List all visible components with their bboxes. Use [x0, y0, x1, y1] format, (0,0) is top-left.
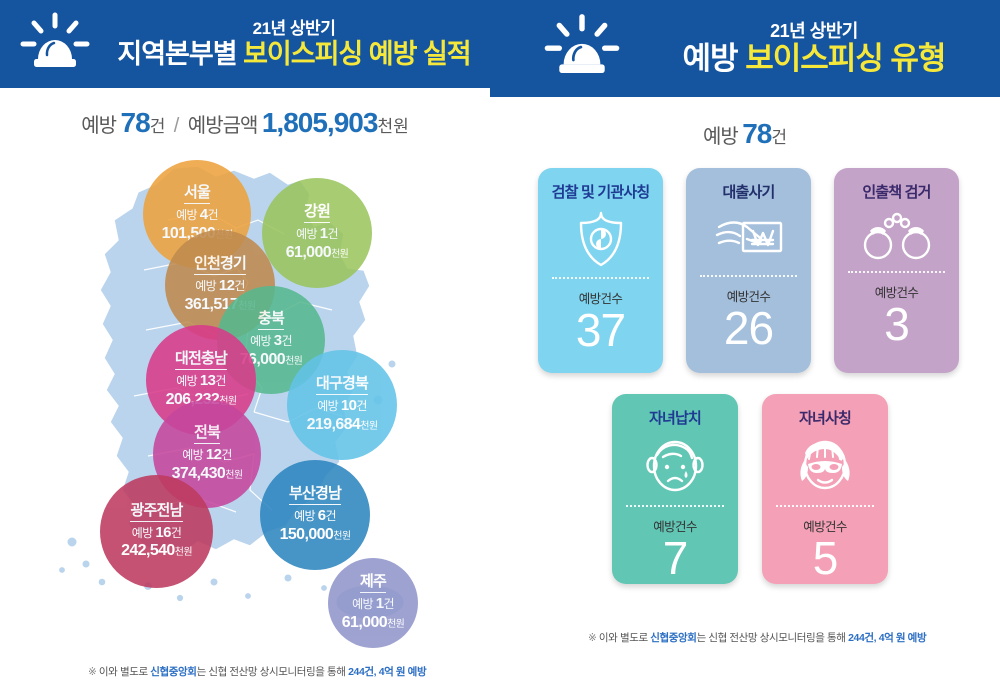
header-left-title: 지역본부별 보이스피싱 예방 실적: [98, 40, 490, 68]
type-card[interactable]: 자녀납치예방건수7: [612, 394, 738, 584]
summary-right-label1: 예방: [703, 126, 738, 148]
type-card-count-value: 5: [813, 536, 838, 580]
summary-left-unit2: 천원: [377, 117, 408, 136]
type-card-count-value: 37: [576, 308, 625, 352]
map-bubble-region: 부산경남: [289, 486, 341, 505]
footnote-left-text2: 는 신협 전산망 상시모니터링을 통해: [197, 666, 349, 678]
header-right-title: 예방 보이스피싱 유형: [628, 43, 1000, 76]
type-card[interactable]: 대출사기예방건수26: [686, 168, 811, 373]
korea-map-panel: 서울예방 4건101,500천원강원예방 1건61,000천원인천경기예방 12…: [0, 140, 490, 650]
siren-icon: [18, 11, 92, 78]
footnote-left-org: 신협중앙회: [150, 666, 196, 678]
type-card[interactable]: 자녀사칭예방건수5: [762, 394, 888, 584]
summary-left-value1: 78: [121, 107, 150, 138]
summary-left-label2: 예방금액: [188, 115, 258, 137]
footnote-left: ※ 이와 별도로 신협중앙회는 신협 전산망 상시모니터링을 통해 244건, …: [88, 664, 426, 679]
type-card-divider: [552, 277, 650, 279]
header-left-text: 21년 상반기 지역본부별 보이스피싱 예방 실적: [98, 20, 490, 68]
summary-left-label1: 예방: [81, 115, 116, 137]
header-right-text: 21년 상반기 예방 보이스피싱 유형: [628, 22, 1000, 75]
type-card-divider: [700, 275, 798, 277]
type-card-divider: [626, 505, 724, 507]
type-card-title: 검찰 및 기관사칭: [552, 181, 650, 202]
header-right-title-highlight: 보이스피싱 유형: [745, 41, 945, 76]
map-bubble-amount: 374,430천원: [172, 465, 243, 483]
map-bubble-region: 제주: [360, 574, 386, 593]
type-card-count-value: 26: [724, 306, 773, 350]
map-bubble-count: 예방 1건: [296, 226, 338, 243]
siren-icon: [542, 12, 622, 85]
crying-child-icon: [643, 435, 707, 497]
header-right-title-plain: 예방: [683, 41, 746, 76]
map-bubble-amount: 61,000천원: [286, 244, 349, 262]
map-bubble-count: 예방 12건: [182, 447, 232, 464]
map-bubble-region: 서울: [184, 185, 210, 204]
footnote-right-text2: 는 신협 전산망 상시모니터링을 통해: [697, 632, 849, 644]
summary-right: 예방 78건: [490, 118, 1000, 150]
header-left: 21년 상반기 지역본부별 보이스피싱 예방 실적: [0, 0, 490, 88]
map-bubble-region: 전북: [194, 425, 220, 444]
summary-right-unit1: 건: [771, 128, 787, 147]
footnote-left-stat: 244건, 4억 원 예방: [348, 666, 426, 678]
type-cards-panel: 검찰 및 기관사칭예방건수37대출사기예방건수26인출책 검거예방건수3자녀납치…: [490, 160, 1000, 610]
map-bubble-count: 예방 3건: [250, 333, 292, 350]
map-bubble: 부산경남예방 6건150,000천원: [260, 460, 370, 570]
summary-left-separator: /: [170, 115, 184, 137]
handcuffs-icon: [861, 209, 933, 263]
type-card-count-value: 3: [884, 302, 909, 346]
map-bubble-amount: 219,684천원: [307, 416, 378, 434]
map-bubble: 강원예방 1건61,000천원: [262, 178, 372, 288]
type-card[interactable]: 검찰 및 기관사칭예방건수37: [538, 168, 663, 373]
type-card-count-value: 7: [663, 536, 688, 580]
type-card[interactable]: 인출책 검거예방건수3: [834, 168, 959, 373]
header-left-title-plain: 지역본부별: [117, 39, 243, 69]
map-bubble-count: 예방 6건: [294, 508, 336, 525]
footnote-right: ※ 이와 별도로 신협중앙회는 신협 전산망 상시모니터링을 통해 244건, …: [588, 630, 926, 645]
hand-money-icon: [713, 209, 785, 267]
header-right: 21년 상반기 예방 보이스피싱 유형: [490, 0, 1000, 97]
type-card-divider: [848, 271, 946, 273]
map-bubble: 대구경북예방 10건219,684천원: [287, 350, 397, 460]
type-card-title: 인출책 검거: [862, 181, 930, 202]
summary-left-value2: 1,805,903: [262, 107, 378, 138]
map-bubble-region: 충북: [258, 311, 284, 330]
footnote-right-org: 신협중앙회: [650, 632, 696, 644]
type-card-title: 자녀사칭: [799, 407, 851, 428]
map-bubble-amount: 242,540천원: [121, 542, 192, 560]
map-bubble-region: 대전충남: [175, 351, 227, 370]
summary-left: 예방 78건 / 예방금액 1,805,903천원: [0, 107, 490, 139]
type-card-divider: [776, 505, 874, 507]
footnote-right-stat: 244건, 4억 원 예방: [848, 632, 926, 644]
summary-left-unit1: 건: [150, 117, 166, 136]
shield-taegeuk-icon: [573, 209, 629, 269]
type-card-title: 자녀납치: [649, 407, 701, 428]
masked-girl-icon: [791, 435, 859, 497]
header-left-superscript: 21년 상반기: [98, 20, 490, 38]
map-bubble-count: 예방 16건: [132, 525, 182, 542]
map-bubble-region: 광주전남: [130, 503, 182, 522]
map-bubble: 제주예방 1건61,000천원: [328, 558, 418, 648]
map-bubble: 광주전남예방 16건242,540천원: [100, 475, 213, 588]
map-bubble-count: 예방 13건: [176, 373, 226, 390]
map-bubble-count: 예방 4건: [176, 207, 218, 224]
map-bubble-amount: 150,000천원: [280, 526, 351, 544]
map-bubble-region: 대구경북: [316, 376, 368, 395]
header-left-title-highlight: 보이스피싱 예방 실적: [243, 39, 471, 69]
map-bubble-region: 강원: [304, 204, 330, 223]
map-bubble-count: 예방 12건: [195, 278, 245, 295]
map-bubble-region: 인천경기: [194, 256, 246, 275]
map-bubble-count: 예방 10건: [317, 398, 367, 415]
footnote-left-text1: 이와 별도로: [96, 666, 150, 678]
map-bubble-amount: 61,000천원: [342, 614, 405, 632]
header-right-superscript: 21년 상반기: [628, 22, 1000, 41]
summary-right-value1: 78: [742, 118, 771, 149]
type-card-title: 대출사기: [722, 181, 774, 202]
map-bubble-count: 예방 1건: [352, 596, 394, 613]
footnote-right-text1: 이와 별도로: [596, 632, 650, 644]
